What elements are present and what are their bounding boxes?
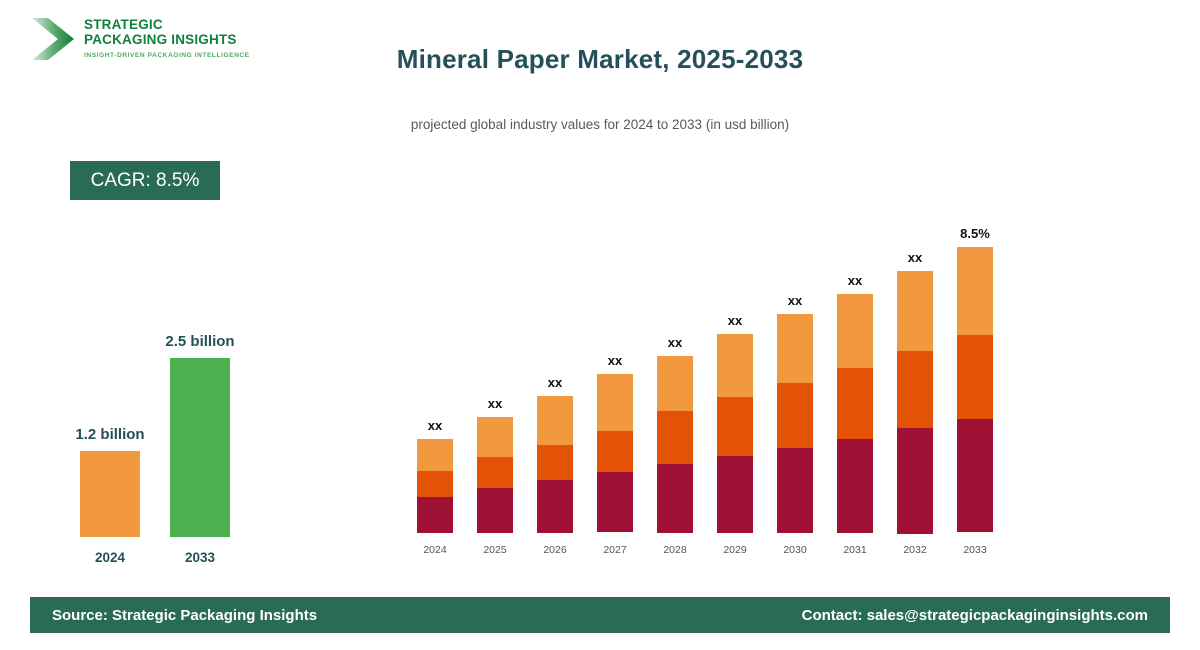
stacked-bar-value-label: xx: [700, 313, 770, 328]
stacked-bar: [417, 439, 453, 533]
stacked-bar-segment-segment-top: [477, 417, 513, 457]
stacked-bar-value-label: xx: [640, 335, 710, 350]
footer-bar: Source: Strategic Packaging Insights Con…: [30, 597, 1170, 633]
cagr-badge: CAGR: 8.5%: [70, 161, 220, 200]
page-title: Mineral Paper Market, 2025-2033: [0, 44, 1200, 75]
stacked-bar-segment-segment-bottom: [597, 472, 633, 532]
comparison-bar-value-label: 1.2 billion: [30, 426, 190, 443]
stacked-bar-value-label: xx: [400, 418, 470, 433]
stacked-bar-segment-segment-middle: [417, 471, 453, 497]
stacked-bar-year-label: 2033: [953, 544, 997, 556]
stacked-bar-segment-segment-middle: [657, 411, 693, 464]
stacked-bar-year-label: 2027: [593, 544, 637, 556]
stacked-bar-segment-segment-top: [417, 439, 453, 471]
stacked-bar-segment-segment-middle: [897, 351, 933, 428]
stacked-bar-segment-segment-middle: [537, 445, 573, 480]
stacked-bar-segment-segment-top: [777, 314, 813, 383]
stacked-bar-year-label: 2030: [773, 544, 817, 556]
stacked-bar-year-label: 2028: [653, 544, 697, 556]
stacked-bar-group: xx2028: [657, 220, 693, 560]
stacked-bar-value-label: 8.5%: [940, 226, 1010, 241]
stacked-bar-value-label: xx: [460, 396, 530, 411]
stacked-bar-segment-segment-middle: [477, 457, 513, 488]
cagr-badge-label: CAGR: 8.5%: [91, 170, 200, 192]
stacked-bar-segment-segment-bottom: [777, 448, 813, 533]
stacked-bar-segment-segment-top: [657, 356, 693, 411]
stacked-bar: [597, 374, 633, 533]
stacked-bar-group: xx2032: [897, 220, 933, 560]
stacked-bar-segment-segment-middle: [777, 383, 813, 448]
stacked-bar-segment-segment-middle: [837, 368, 873, 439]
stacked-bar-segment-segment-top: [597, 374, 633, 431]
stacked-bar: [777, 314, 813, 533]
page-subtitle: projected global industry values for 202…: [0, 117, 1200, 132]
stacked-bar-segment-segment-bottom: [477, 488, 513, 533]
comparison-bar: [170, 358, 230, 537]
footer-source: Source: Strategic Packaging Insights: [52, 607, 317, 624]
stacked-bar-group: xx2025: [477, 220, 513, 560]
stacked-bar-segment-segment-bottom: [657, 464, 693, 533]
stacked-bar-segment-segment-top: [837, 294, 873, 368]
stacked-bar: [657, 356, 693, 533]
stacked-bar-group: xx2031: [837, 220, 873, 560]
stacked-bar-segment-segment-top: [897, 271, 933, 351]
projection-stacked-bar-chart: xx2024xx2025xx2026xx2027xx2028xx2029xx20…: [400, 190, 1020, 560]
stacked-bar-group: xx2026: [537, 220, 573, 560]
stacked-bar-segment-segment-middle: [597, 431, 633, 472]
stacked-bar: [537, 396, 573, 533]
stacked-bar: [477, 417, 513, 533]
stacked-bar: [957, 247, 993, 533]
stacked-bar: [837, 294, 873, 533]
stacked-bar-group: xx2030: [777, 220, 813, 560]
stacked-bar-value-label: xx: [520, 375, 590, 390]
stacked-bar-group: xx2029: [717, 220, 753, 560]
stacked-bar: [897, 271, 933, 533]
stacked-bar-year-label: 2032: [893, 544, 937, 556]
stacked-bar-segment-segment-middle: [957, 335, 993, 419]
stacked-bar-value-label: xx: [580, 353, 650, 368]
comparison-bar-value-label: 2.5 billion: [120, 333, 280, 350]
stacked-bar-segment-segment-bottom: [717, 456, 753, 533]
stacked-bar-year-label: 2031: [833, 544, 877, 556]
stacked-bar-value-label: xx: [820, 273, 890, 288]
stacked-bar-segment-segment-bottom: [537, 480, 573, 533]
stacked-bar-segment-segment-top: [717, 334, 753, 397]
comparison-bar-year-label: 2033: [170, 550, 230, 565]
stacked-bar-group: 8.5%2033: [957, 220, 993, 560]
stacked-bar-year-label: 2025: [473, 544, 517, 556]
stacked-bar-value-label: xx: [880, 250, 950, 265]
stacked-bar-segment-segment-middle: [717, 397, 753, 456]
logo-line-1: STRATEGIC: [84, 18, 250, 33]
stacked-bar-value-label: xx: [760, 293, 830, 308]
stacked-bar-year-label: 2026: [533, 544, 577, 556]
stacked-bar-segment-segment-top: [957, 247, 993, 335]
stacked-bar-year-label: 2029: [713, 544, 757, 556]
stacked-bar-group: xx2027: [597, 220, 633, 560]
footer-contact: Contact: sales@strategicpackaginginsight…: [802, 607, 1148, 624]
comparison-chart: 1.2 billion20242.5 billion2033: [60, 300, 310, 570]
stacked-bar-group: xx2024: [417, 220, 453, 560]
stacked-bar-segment-segment-bottom: [897, 428, 933, 534]
stacked-bar: [717, 334, 753, 533]
comparison-bar-year-label: 2024: [80, 550, 140, 565]
stacked-bar-year-label: 2024: [413, 544, 457, 556]
comparison-bar: [80, 451, 140, 537]
stacked-bar-segment-segment-bottom: [417, 497, 453, 533]
stacked-bar-segment-segment-top: [537, 396, 573, 445]
comparison-bar-group: 1.2 billion2024: [80, 451, 140, 537]
stacked-bar-segment-segment-bottom: [957, 419, 993, 532]
comparison-bar-group: 2.5 billion2033: [170, 358, 230, 537]
stacked-bar-segment-segment-bottom: [837, 439, 873, 533]
